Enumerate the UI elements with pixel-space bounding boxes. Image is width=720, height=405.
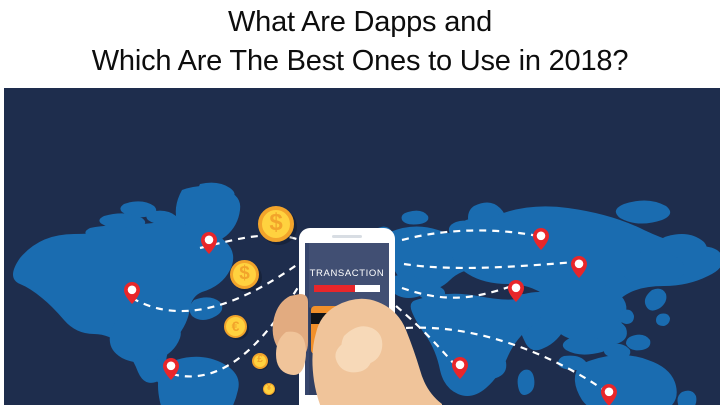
title-line-2: Which Are The Best Ones to Use in 2018? <box>92 42 629 80</box>
slide-root: What Are Dapps and Which Are The Best On… <box>0 0 720 405</box>
title-line-1: What Are Dapps and <box>228 3 492 41</box>
hand-holding-phone <box>4 88 720 405</box>
page-title: What Are Dapps and Which Are The Best On… <box>0 0 720 88</box>
hero-illustration: $ $ € £ ¥ TRANSACTION <box>4 88 720 405</box>
